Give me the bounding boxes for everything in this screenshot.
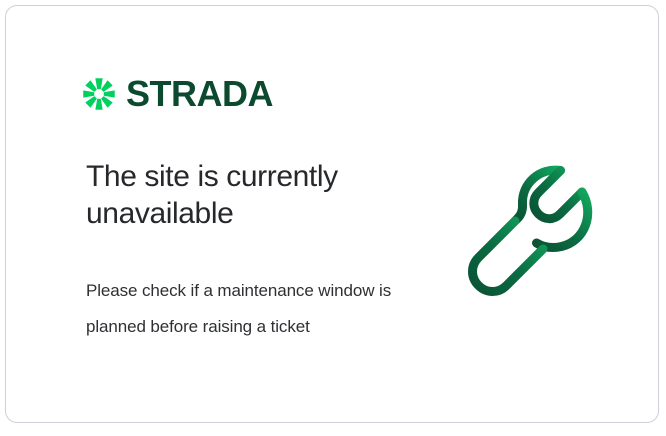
page-title: The site is currently unavailable (86, 158, 416, 232)
page-description: Please check if a maintenance window is … (86, 232, 416, 345)
page-root: STRADA The site is currently unavailable… (0, 0, 666, 436)
wrench-icon (461, 158, 616, 313)
message-block: The site is currently unavailable Please… (86, 158, 416, 345)
strada-asterisk-icon (81, 76, 117, 112)
brand-wordmark: STRADA (126, 76, 273, 112)
status-card: STRADA The site is currently unavailable… (5, 5, 659, 423)
brand-lockup: STRADA (81, 74, 273, 114)
